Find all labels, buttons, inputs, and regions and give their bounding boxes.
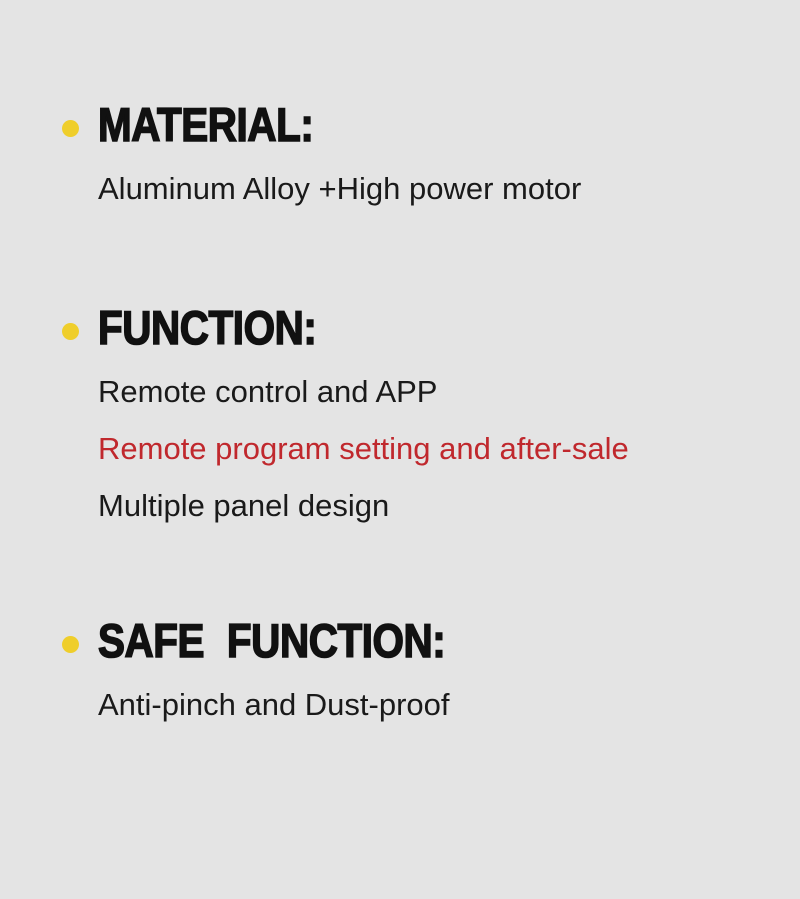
section-body-material: Aluminum Alloy +High power motor xyxy=(98,160,800,217)
spec-line: Aluminum Alloy +High power motor xyxy=(98,160,800,217)
spec-line: Remote control and APP xyxy=(98,363,800,420)
bullet-dot-icon xyxy=(62,636,79,653)
section-body-safe-function: Anti-pinch and Dust-proof xyxy=(98,676,800,733)
section-heading-function: FUNCTION: xyxy=(98,302,702,354)
section-body-function: Remote control and APP Remote program se… xyxy=(98,363,800,534)
spec-section-material: MATERIAL: Aluminum Alloy +High power mot… xyxy=(0,99,800,217)
product-spec-sheet: MATERIAL: Aluminum Alloy +High power mot… xyxy=(0,99,800,899)
bullet-dot-icon xyxy=(62,323,79,340)
spec-line: Multiple panel design xyxy=(98,477,800,534)
spec-section-safe-function: SAFE FUNCTION: Anti-pinch and Dust-proof xyxy=(0,615,800,733)
spec-section-function: FUNCTION: Remote control and APP Remote … xyxy=(0,302,800,534)
section-heading-material: MATERIAL: xyxy=(98,99,702,151)
section-heading-safe-function: SAFE FUNCTION: xyxy=(98,615,702,667)
spec-line: Anti-pinch and Dust-proof xyxy=(98,676,800,733)
bullet-dot-icon xyxy=(62,120,79,137)
spec-line-highlighted: Remote program setting and after-sale xyxy=(98,420,800,477)
